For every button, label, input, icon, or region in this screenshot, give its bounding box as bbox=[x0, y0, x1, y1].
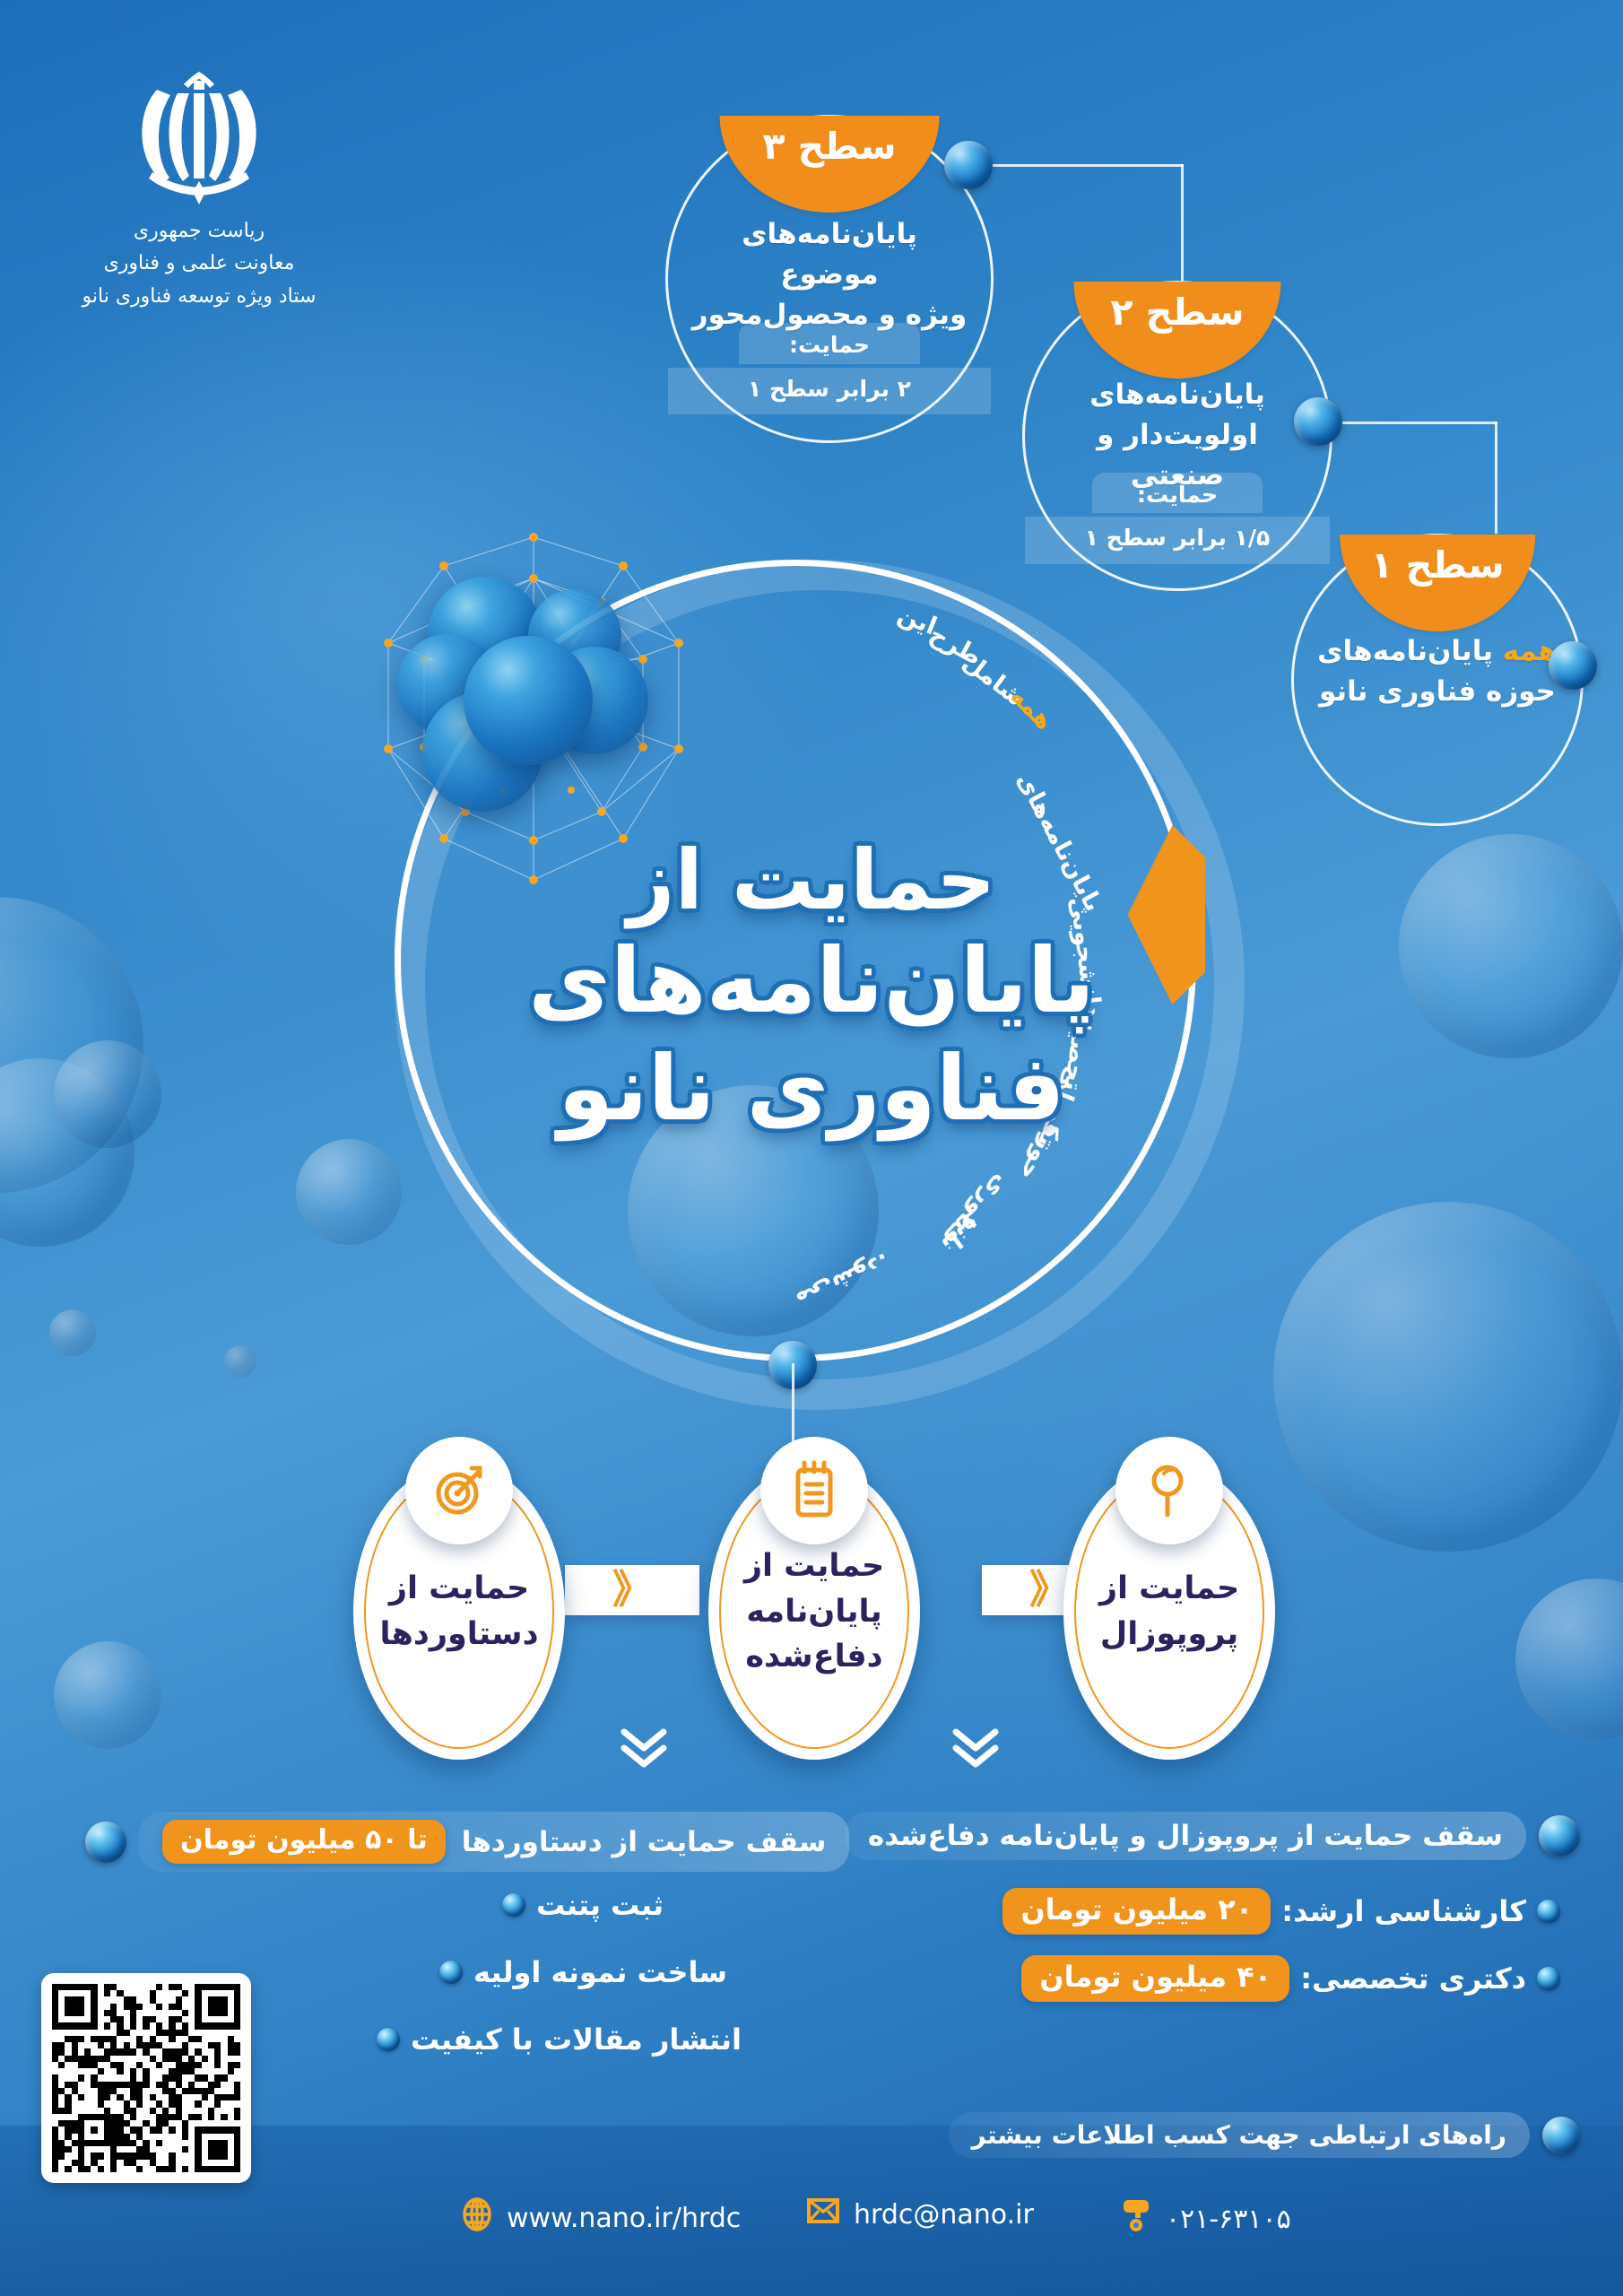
poster-canvas: ریاست جمهوری معاونت علمی و فناوری ستاد و… bbox=[0, 0, 1623, 2296]
page-title-line2-wrap: پایان‌نامه‌های bbox=[0, 931, 1623, 1031]
page-title: حمایت از bbox=[0, 834, 1623, 926]
level-1-line-1: همه پایان‌نامه‌های bbox=[1314, 631, 1560, 672]
contact-phone[interactable]: ۰۲۱-۶۳۱۰۵ bbox=[1121, 2197, 1291, 2240]
level-3-support-value: ۲ برابر سطح ۱ bbox=[668, 368, 991, 415]
level-3-line-1: پایان‌نامه‌های موضوع bbox=[690, 214, 968, 295]
org-line-3: ستاد ویژه توسعه فناوری نانو bbox=[56, 281, 343, 313]
level-2-cap: سطح ۲ bbox=[1073, 282, 1280, 378]
chevron-down-icon-right bbox=[950, 1726, 1001, 1773]
right-section-item-phd-amount: ۴۰ میلیون تومان bbox=[1021, 1955, 1289, 2002]
right-section-item-masters-label: کارشناسی ارشد: bbox=[1281, 1894, 1526, 1928]
left-section-heading-text: سقف حمایت از دستاوردها تا ۵۰ میلیون توما… bbox=[139, 1812, 849, 1872]
left-section-heading-label: سقف حمایت از دستاوردها bbox=[462, 1826, 827, 1858]
left-section-item-patent-label: ثبت پتنت bbox=[536, 1888, 664, 1922]
globe-icon bbox=[462, 2197, 492, 2239]
envelope-icon bbox=[807, 2197, 839, 2231]
left-section-item-prototype: ساخت نمونه اولیه bbox=[439, 1955, 727, 1989]
contact-website-value: www.nano.ir/hrdc bbox=[507, 2203, 741, 2234]
chevron-down-icon-left bbox=[619, 1726, 669, 1773]
right-section-item-masters: کارشناسی ارشد: ۲۰ میلیون تومان bbox=[1002, 1888, 1560, 1935]
left-section-item-prototype-label: ساخت نمونه اولیه bbox=[473, 1955, 727, 1989]
process-connector-left: 《 bbox=[565, 1565, 699, 1615]
level-1-node-bubble bbox=[1549, 641, 1597, 690]
bullet-icon bbox=[502, 1893, 525, 1917]
contact-email[interactable]: hrdc@nano.ir bbox=[807, 2197, 1034, 2231]
right-section-item-phd: دکتری تخصصی: ۴۰ میلیون تومان bbox=[1021, 1955, 1560, 2002]
org-line-2: معاونت علمی و فناوری bbox=[56, 248, 343, 280]
level-2-support: حمایت: ۱/۵ برابر سطح ۱ bbox=[1025, 473, 1330, 564]
government-emblem-logo bbox=[100, 47, 298, 217]
title-line-1: حمایت از bbox=[0, 834, 1623, 926]
left-section-item-articles: انتشار مقالات با کیفیت bbox=[377, 2022, 742, 2057]
level-1-cap-label: سطح ۱ bbox=[1370, 535, 1504, 584]
left-section-amount: تا ۵۰ میلیون تومان bbox=[162, 1820, 446, 1864]
target-icon bbox=[405, 1437, 513, 1544]
bullet-icon bbox=[439, 1961, 463, 1984]
level-2-line-1: پایان‌نامه‌های bbox=[1046, 375, 1308, 415]
qr-code-matrix bbox=[52, 1984, 240, 2172]
level-2-support-value: ۱/۵ برابر سطح ۱ bbox=[1025, 517, 1330, 564]
section-bullet-badge bbox=[1539, 1815, 1580, 1857]
footer-heading-text: راه‌های ارتباطی جهت کسب اطلاعات بیشتر bbox=[949, 2112, 1530, 2158]
level-2-support-label: حمایت: bbox=[1092, 473, 1263, 514]
level-1-cap: سطح ۱ bbox=[1340, 535, 1535, 631]
notepad-icon bbox=[760, 1437, 868, 1544]
contact-website[interactable]: www.nano.ir/hrdc bbox=[462, 2197, 741, 2239]
section-bullet-badge bbox=[1542, 2117, 1580, 2154]
right-section-heading: سقف حمایت از پروپوزال و پایان‌نامه دفاع‌… bbox=[845, 1812, 1580, 1860]
level-2-node-bubble bbox=[1294, 397, 1342, 446]
title-line-2: پایان‌نامه‌های bbox=[0, 931, 1623, 1031]
bullet-icon bbox=[377, 2028, 400, 2051]
level-3-node-bubble bbox=[944, 141, 993, 189]
qr-code[interactable] bbox=[41, 1973, 251, 2183]
level-3-description: پایان‌نامه‌های موضوع ویژه و محصول‌محور bbox=[690, 214, 968, 335]
contact-phone-value: ۰۲۱-۶۳۱۰۵ bbox=[1166, 2204, 1291, 2235]
contact-email-value: hrdc@nano.ir bbox=[854, 2199, 1034, 2231]
process-connector-left-glyph: 《 bbox=[612, 1570, 652, 1610]
phone-icon bbox=[1121, 2197, 1151, 2240]
right-section-heading-text: سقف حمایت از پروپوزال و پایان‌نامه دفاع‌… bbox=[845, 1812, 1526, 1860]
step-proposal-label: حمایت از پروپوزال bbox=[1071, 1566, 1268, 1657]
left-section-item-articles-label: انتشار مقالات با کیفیت bbox=[411, 2022, 742, 2057]
right-section-item-phd-label: دکتری تخصصی: bbox=[1300, 1961, 1526, 1996]
right-section-item-masters-amount: ۲۰ میلیون تومان bbox=[1002, 1888, 1271, 1935]
level-1-line-2: حوزه فناوری نانو bbox=[1314, 672, 1560, 712]
level-3-support: حمایت: ۲ برابر سطح ۱ bbox=[668, 323, 991, 414]
step-outcomes-label: حمایت از دستاوردها bbox=[351, 1566, 567, 1657]
footer-heading: راه‌های ارتباطی جهت کسب اطلاعات بیشتر bbox=[949, 2112, 1580, 2158]
section-bullet-badge bbox=[85, 1822, 126, 1863]
left-section-heading: سقف حمایت از دستاوردها تا ۵۰ میلیون توما… bbox=[85, 1812, 849, 1872]
level-1-circle[interactable]: سطح ۱ همه پایان‌نامه‌های حوزه فناوری نان… bbox=[1291, 534, 1584, 826]
level-3-support-label: حمایت: bbox=[739, 323, 920, 364]
step-defended-thesis-label: حمایت از پایان‌نامه دفاع‌شده bbox=[716, 1544, 913, 1680]
level-3-cap: سطح ۳ bbox=[720, 116, 940, 213]
page-title-line3-wrap: فناوری نانو bbox=[0, 1039, 1623, 1139]
organization-name: ریاست جمهوری معاونت علمی و فناوری ستاد و… bbox=[56, 215, 343, 313]
magnifier-icon bbox=[1115, 1437, 1223, 1544]
bullet-icon bbox=[1537, 1967, 1560, 1990]
level-1-line-1-rest: پایان‌نامه‌های bbox=[1317, 635, 1503, 667]
left-section-item-patent: ثبت پتنت bbox=[502, 1888, 664, 1922]
title-line-3: فناوری نانو bbox=[0, 1039, 1623, 1139]
org-line-1: ریاست جمهوری bbox=[56, 215, 343, 248]
level-3-cap-label: سطح ۳ bbox=[762, 116, 896, 165]
level-2-circle[interactable]: سطح ۲ پایان‌نامه‌های اولویت‌دار و صنعتی … bbox=[1022, 281, 1332, 591]
bullet-icon bbox=[1537, 1900, 1560, 1923]
level-2-cap-label: سطح ۲ bbox=[1110, 282, 1244, 331]
level-1-description: همه پایان‌نامه‌های حوزه فناوری نانو bbox=[1314, 631, 1560, 712]
